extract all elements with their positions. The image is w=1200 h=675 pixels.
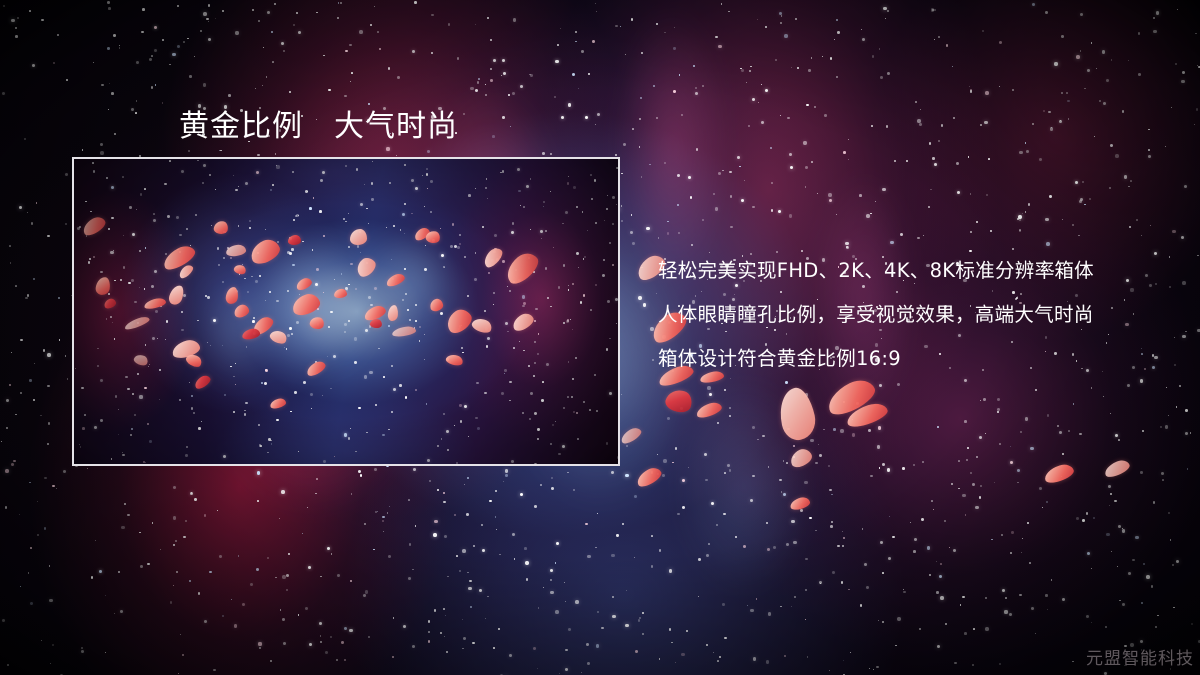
watermark: 元盟智能科技 [1086,644,1194,669]
body-line: 人体眼睛瞳孔比例，享受视觉效果，高端大气时尚 [658,293,1178,337]
body-line: 轻松完美实现FHD、2K、4K、8K标准分辨率箱体 [658,249,1178,293]
inset-vignette [74,159,618,464]
body-line: 箱体设计符合黄金比例16:9 [658,337,1178,381]
body-copy: 轻松完美实现FHD、2K、4K、8K标准分辨率箱体 人体眼睛瞳孔比例，享受视觉效… [658,249,1178,381]
framed-image-panel [72,157,620,466]
page-title: 黄金比例 大气时尚 [179,101,458,145]
presentation-slide: 黄金比例 大气时尚 轻松完美实现FHD、2K、4K、8K标准分辨率箱体 人体眼睛… [0,0,1200,675]
